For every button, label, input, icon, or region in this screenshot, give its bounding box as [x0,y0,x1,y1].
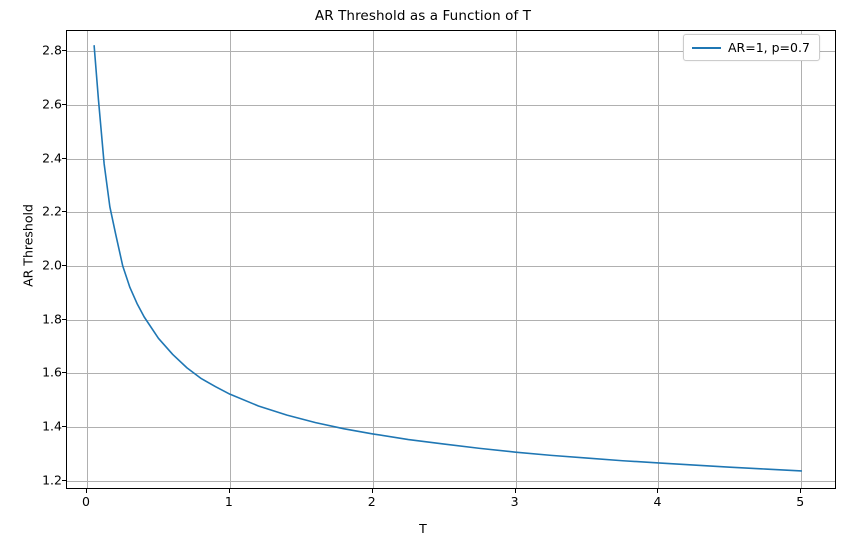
y-tick-label: 1.6 [18,365,62,380]
legend-line-swatch [692,47,721,49]
legend-label: AR=1, p=0.7 [728,40,810,55]
x-tick-mark [657,489,658,493]
x-tick-label: 1 [209,494,249,509]
series-line-ar-threshold [67,31,836,489]
chart-title: AR Threshold as a Function of T [0,8,846,24]
y-tick-label: 1.8 [18,311,62,326]
y-tick-label: 2.6 [18,96,62,111]
x-tick-label: 2 [352,494,392,509]
y-tick-label: 2.2 [18,204,62,219]
y-tick-label: 2.4 [18,150,62,165]
y-tick-label: 1.2 [18,472,62,487]
chart-figure: AR Threshold as a Function of T AR Thres… [0,0,846,545]
y-axis-tick-labels: 1.21.41.61.82.02.22.42.62.8 [14,0,62,545]
x-axis-tick-marks [0,489,846,494]
plot-area [66,30,836,489]
y-tick-label: 1.4 [18,418,62,433]
chart-legend: AR=1, p=0.7 [683,34,820,61]
x-axis-tick-labels: 012345 [0,494,846,514]
y-tick-label: 2.0 [18,257,62,272]
x-tick-label: 3 [495,494,535,509]
x-tick-mark [515,489,516,493]
x-axis-label: T [0,521,846,536]
y-tick-label: 2.8 [18,43,62,58]
x-tick-mark [229,489,230,493]
x-tick-label: 5 [780,494,820,509]
series-path [94,46,801,471]
x-tick-mark [86,489,87,493]
x-tick-mark [800,489,801,493]
x-tick-label: 0 [66,494,106,509]
x-tick-label: 4 [637,494,677,509]
x-tick-mark [372,489,373,493]
